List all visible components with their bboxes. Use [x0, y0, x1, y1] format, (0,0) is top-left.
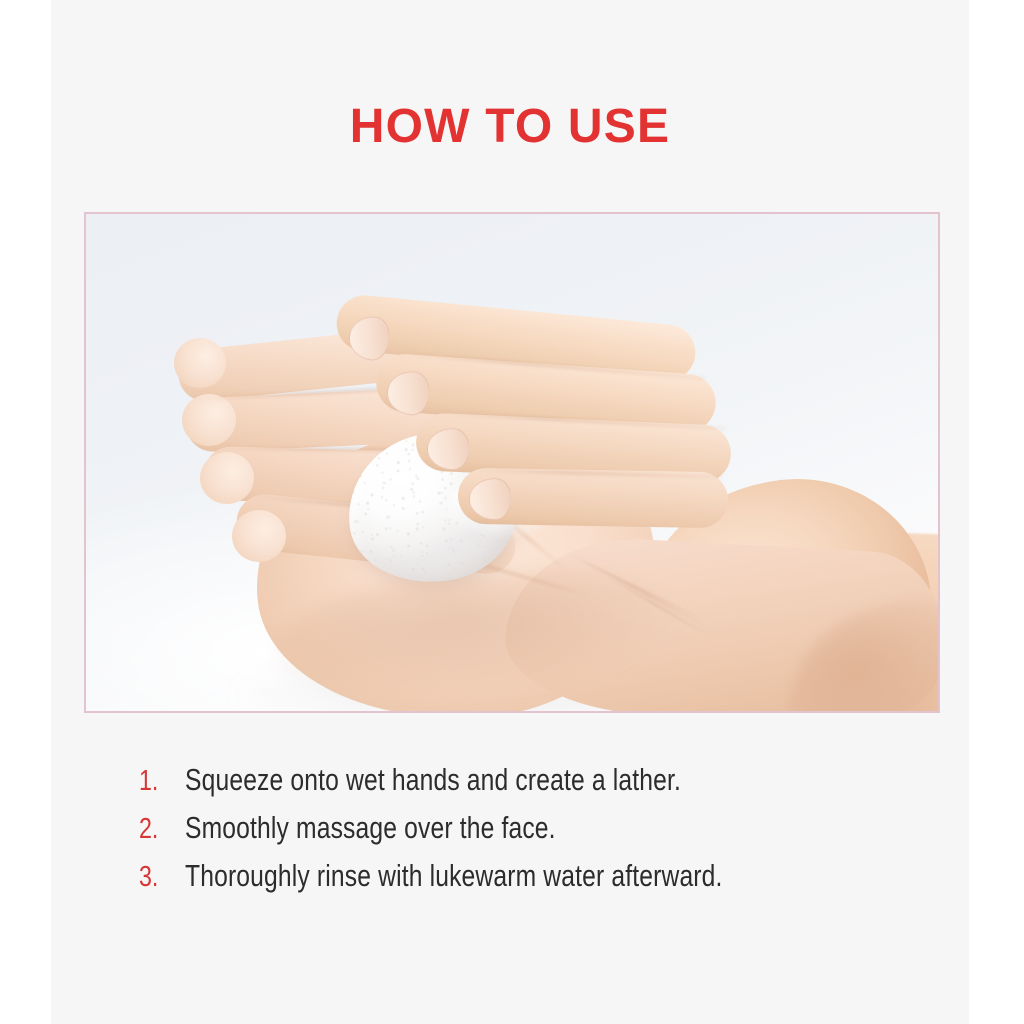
left-fingertip-4	[232, 510, 286, 562]
how-to-use-photo-frame	[84, 212, 940, 713]
instruction-list: 1. Squeeze onto wet hands and create a l…	[139, 762, 939, 906]
step-text: Thoroughly rinse with lukewarm water aft…	[185, 858, 723, 894]
left-fingertip-2	[182, 394, 236, 446]
page-title: HOW TO USE	[51, 103, 969, 151]
step-number: 1.	[139, 765, 176, 798]
list-item: 3. Thoroughly rinse with lukewarm water …	[139, 858, 939, 906]
list-item: 1. Squeeze onto wet hands and create a l…	[139, 762, 939, 810]
left-fingertip-1	[174, 338, 226, 388]
hands-with-foam-photo	[86, 214, 938, 711]
step-number: 3.	[139, 861, 176, 894]
content-panel: HOW TO USE	[51, 0, 969, 1024]
step-text: Squeeze onto wet hands and create a lath…	[185, 762, 681, 798]
page-root: HOW TO USE	[0, 0, 1024, 1024]
step-number: 2.	[139, 813, 176, 846]
list-item: 2. Smoothly massage over the face.	[139, 810, 939, 858]
step-text: Smoothly massage over the face.	[185, 810, 556, 846]
